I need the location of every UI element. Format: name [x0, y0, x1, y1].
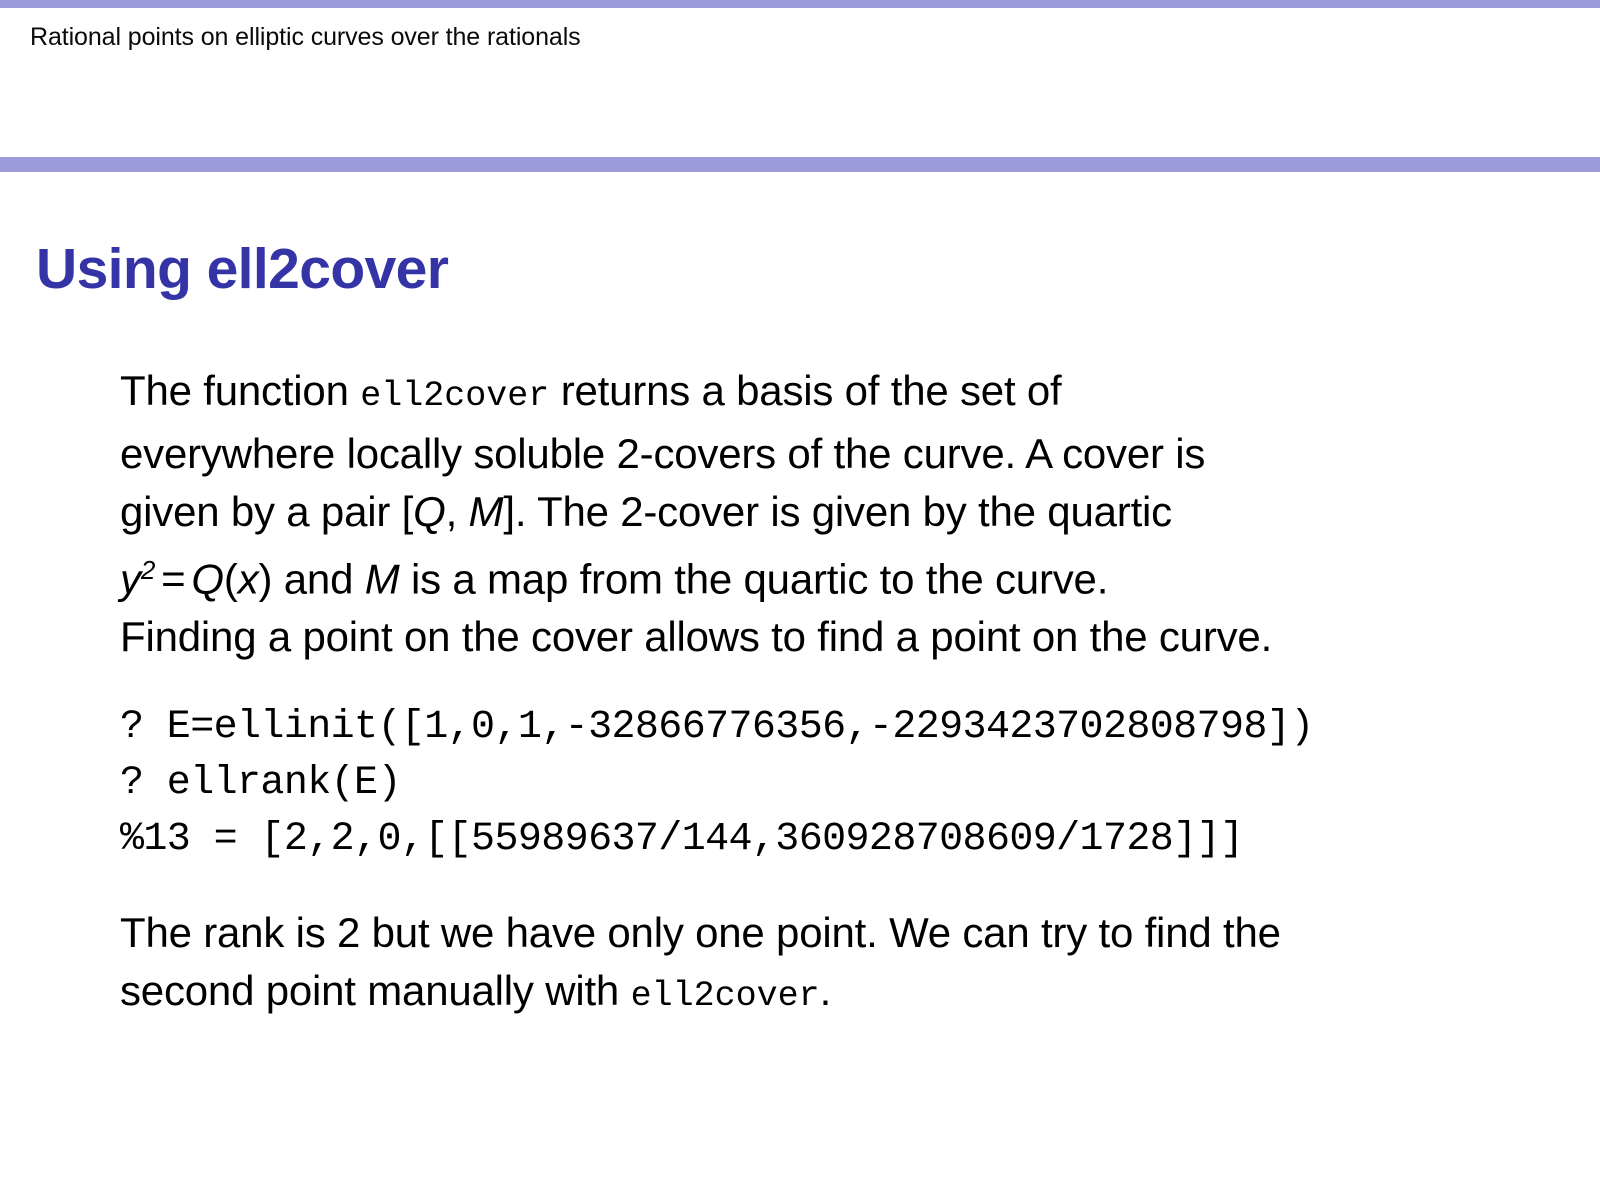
paragraph-closing: The rank is 2 but we have only one point… [120, 904, 1580, 1025]
text-line: given by a pair [Q, M]. The 2-cover is g… [120, 483, 1580, 541]
math-symbol: x [238, 555, 259, 602]
text-line: The function ell2cover returns a basis o… [120, 362, 1580, 425]
slide-header: Rational points on elliptic curves over … [0, 0, 1600, 172]
math-symbol: y [120, 555, 141, 602]
text-line: The rank is 2 but we have only one point… [120, 904, 1580, 962]
text-run: second point manually with [120, 967, 631, 1014]
text-line: second point manually with ell2cover. [120, 962, 1580, 1025]
text-run: returns a basis of the set of [549, 367, 1061, 414]
text-run: . [820, 967, 831, 1014]
text-run: is a map from the quartic to the curve. [400, 555, 1109, 602]
code-block: ? E=ellinit([1,0,1,-32866776356,-2293423… [120, 700, 1580, 868]
math-symbol: M [365, 555, 400, 602]
text-line: Finding a point on the cover allows to f… [120, 608, 1580, 666]
paragraph-intro: The function ell2cover returns a basis o… [120, 362, 1580, 666]
text-run: ) and [259, 555, 365, 602]
text-run: ( [224, 555, 238, 602]
text-run: Finding a point on the cover allows to f… [120, 613, 1272, 660]
math-operator: = [155, 555, 191, 602]
text-run: everywhere locally soluble 2-covers of t… [120, 430, 1205, 477]
math-symbol: M [469, 488, 504, 535]
header-title: Rational points on elliptic curves over … [30, 22, 581, 52]
header-rule-bottom [0, 157, 1600, 172]
code-line: ? E=ellinit([1,0,1,-32866776356,-2293423… [120, 700, 1580, 756]
text-run: ]. The 2-cover is given by the quartic [503, 488, 1172, 535]
math-symbol: Q [413, 488, 445, 535]
text-run: given by a pair [ [120, 488, 413, 535]
slide-content: The function ell2cover returns a basis o… [120, 362, 1580, 1025]
header-rule-top [0, 0, 1600, 8]
text-run: The function [120, 367, 360, 414]
inline-code: ell2cover [631, 976, 820, 1016]
code-line: %13 = [2,2,0,[[55989637/144,360928708609… [120, 812, 1580, 868]
code-line: ? ellrank(E) [120, 756, 1580, 812]
text-run: The rank is 2 but we have only one point… [120, 909, 1281, 956]
math-exponent: 2 [141, 555, 155, 585]
page-title: Using ell2cover [36, 234, 448, 304]
text-line: y2=Q(x) and M is a map from the quartic … [120, 541, 1580, 608]
text-run: , [446, 488, 469, 535]
math-symbol: Q [191, 555, 223, 602]
inline-code: ell2cover [360, 376, 549, 416]
text-line: everywhere locally soluble 2-covers of t… [120, 425, 1580, 483]
